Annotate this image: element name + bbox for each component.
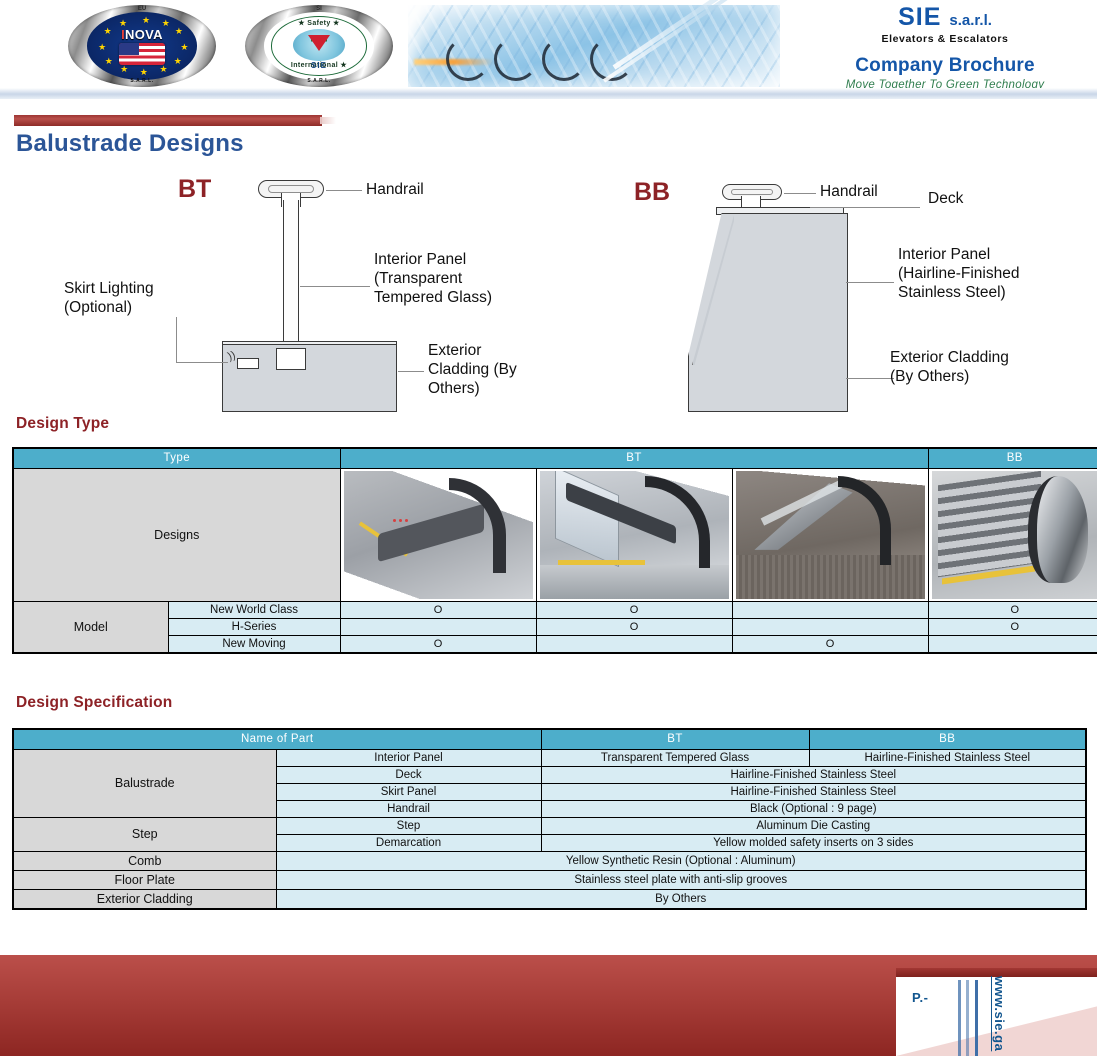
design-type-header-row: Type BT BB [13, 448, 1097, 468]
logo-safety-green-bar [311, 39, 327, 42]
brand-block: SIEs.a.r.l. Elevators & Escalators Compa… [800, 4, 1090, 91]
spec-part-interior-panel: Interior Panel [276, 749, 541, 766]
logo-safety-core-icon [293, 29, 346, 61]
logo-safety-arc-top: ★ Safety ★ [264, 19, 374, 27]
spec-value-step: Aluminum Die Casting [541, 817, 1086, 834]
spec-value-comb: Yellow Synthetic Resin (Optional : Alumi… [276, 851, 1086, 870]
bt-interior-panel-leader [300, 286, 370, 287]
spec-group-exterior-cladding: Exterior Cladding [13, 889, 276, 909]
escalator-banner-image [408, 5, 780, 87]
spec-group-step: Step [13, 817, 276, 851]
bt-interior-panel-label: Interior Panel (Transparent Tempered Gla… [374, 250, 492, 307]
title-accent-bar-fill [14, 115, 322, 126]
spec-value-exterior-cladding: By Others [276, 889, 1086, 909]
design-type-col-type: Type [13, 448, 340, 468]
model-mark-1-3 [732, 601, 928, 618]
bb-exterior-cladding-leader [846, 378, 894, 379]
design-type-col-bt: BT [340, 448, 928, 468]
diagram-label-bb: BB [634, 178, 670, 207]
brand-name: SIEs.a.r.l. [800, 4, 1090, 34]
spec-part-step: Step [276, 817, 541, 834]
document-title-accent: Brochure [949, 55, 1035, 76]
spec-value-skirt-panel: Hairline-Finished Stainless Steel [541, 783, 1086, 800]
photo-a-handrail-arm [449, 478, 506, 573]
escalator-photo-b [540, 471, 729, 599]
logo-innova-word: NOVA [125, 27, 163, 42]
banner-rail-arc-3 [542, 37, 586, 81]
design-type-heading: Design Type [16, 415, 109, 433]
footer-card-stripes [958, 980, 984, 1056]
spec-part-deck: Deck [276, 766, 541, 783]
spec-value-interior-panel-bt: Transparent Tempered Glass [541, 749, 809, 766]
bt-exterior-cladding-label: Exterior Cladding (By Others) [428, 341, 517, 398]
model-mark-2-3 [732, 618, 928, 635]
brand-subtitle: Elevators & Escalators [800, 33, 1090, 45]
escalator-newel-closeup-image [344, 471, 533, 599]
design-photo-cell-3 [732, 468, 928, 601]
design-photo-cell-2 [536, 468, 732, 601]
design-spec-table: Name of Part BT BB Balustrade Interior P… [12, 728, 1087, 910]
bb-interior-panel-label: Interior Panel (Hairline-Finished Stainl… [898, 245, 1019, 302]
bt-exterior-cladding-leader [398, 371, 424, 372]
banner-rail-arc-2 [494, 37, 538, 81]
bb-interior-panel-leader [846, 282, 894, 283]
escalator-steps-stainless-image [932, 471, 1097, 599]
model-label-cell: Model [13, 601, 168, 653]
title-accent-bar-tail [320, 117, 336, 124]
photo-b-floor [540, 565, 729, 598]
bt-handrail-leader [326, 190, 362, 191]
logo-innova-disc: ★★ ★★ ★★ ★★ ★★ ★★ INOVA [87, 12, 197, 79]
logo-safety-base-text: S.A.R.L. [307, 78, 330, 84]
header-divider-strip [0, 88, 1097, 99]
spec-row-interior-panel: Balustrade Interior Panel Transparent Te… [13, 749, 1086, 766]
model-name-2: H-Series [168, 618, 340, 635]
spec-col-name-of-part: Name of Part [13, 729, 541, 749]
spec-row-exterior-cladding: Exterior Cladding By Others [13, 889, 1086, 909]
logo-safety-mark: SIE [311, 61, 327, 70]
spec-part-skirt-panel: Skirt Panel [276, 783, 541, 800]
spec-part-demarcation: Demarcation [276, 834, 541, 851]
model-row-2: H-Series O O [13, 618, 1097, 635]
spec-col-bt: BT [541, 729, 809, 749]
photo-b-glass-panel [555, 471, 619, 567]
spec-col-bb: BB [809, 729, 1086, 749]
escalator-photo-d [932, 471, 1097, 599]
model-mark-3-3: O [732, 635, 928, 653]
bb-balustrade-body-shape [688, 213, 848, 412]
bb-deck-label: Deck [928, 189, 963, 208]
model-mark-2-4: O [928, 618, 1097, 635]
logo-safety-disc: ★ Safety ★ International ★ SIE [264, 12, 374, 79]
model-mark-3-2 [536, 635, 732, 653]
model-row-1: Model New World Class O O O [13, 601, 1097, 618]
bt-handrail-label: Handrail [366, 180, 424, 199]
photo-d-newel [1028, 476, 1088, 584]
bb-exterior-cladding-label: Exterior Cladding (By Others) [890, 348, 1009, 386]
escalator-glass-balustrade-image [540, 471, 729, 599]
logo-innova-top-mark: EU [138, 6, 146, 12]
document-title: Company Brochure [800, 55, 1090, 77]
page-number: P.- [912, 990, 928, 1005]
spec-group-balustrade: Balustrade [13, 749, 276, 817]
spec-row-step: Step Step Aluminum Die Casting [13, 817, 1086, 834]
bt-glass-foot-shape [276, 348, 306, 370]
title-accent-bar [14, 115, 334, 127]
bb-deck-leader [810, 207, 920, 208]
spec-value-floor-plate: Stainless steel plate with anti-slip gro… [276, 870, 1086, 889]
model-mark-1-2: O [536, 601, 732, 618]
escalator-photo-c [736, 471, 925, 599]
spec-part-handrail: Handrail [276, 800, 541, 817]
design-spec-heading: Design Specification [16, 694, 172, 712]
document-title-primary: Company [855, 55, 948, 76]
bt-skirt-lamp-shape [237, 358, 259, 369]
design-type-col-bb: BB [928, 448, 1097, 468]
logo-safety-top-mark: SI [316, 6, 322, 12]
logo-safety-international: SI ★ Safety ★ International ★ SIE S.A.R.… [245, 5, 393, 87]
design-type-designs-row: Designs [13, 468, 1097, 601]
page-title: Balustrade Designs [16, 130, 244, 158]
model-mark-2-1 [340, 618, 536, 635]
model-mark-3-4 [928, 635, 1097, 653]
balustrade-diagrams: BT )) Handrail Interior Panel (Transpare… [0, 165, 1097, 420]
us-flag-icon [119, 43, 165, 65]
bt-glass-panel-shape [283, 200, 299, 350]
spec-value-demarcation: Yellow molded safety inserts on 3 sides [541, 834, 1086, 851]
spec-value-interior-panel-bb: Hairline-Finished Stainless Steel [809, 749, 1086, 766]
page-header: EU ★★ ★★ ★★ ★★ ★★ ★★ INOVA S.A.R.L. SI ★… [0, 0, 1097, 99]
brand-suffix: s.a.r.l. [949, 12, 992, 29]
model-mark-3-1: O [340, 635, 536, 653]
model-mark-1-4: O [928, 601, 1097, 618]
escalator-photo-a [344, 471, 533, 599]
banner-rail-arc-1 [446, 37, 490, 81]
spec-row-comb: Comb Yellow Synthetic Resin (Optional : … [13, 851, 1086, 870]
design-type-table: Type BT BB Designs [12, 447, 1097, 654]
bt-skirt-lighting-label: Skirt Lighting (Optional) [64, 279, 154, 317]
model-name-3: New Moving [168, 635, 340, 653]
logo-innova: EU ★★ ★★ ★★ ★★ ★★ ★★ INOVA S.A.R.L. [68, 5, 216, 87]
bb-handrail-label: Handrail [820, 182, 878, 201]
spec-group-comb: Comb [13, 851, 276, 870]
photo-c-handrail-arm [838, 476, 891, 566]
spec-row-floor-plate: Floor Plate Stainless steel plate with a… [13, 870, 1086, 889]
bb-handrail-leader [784, 193, 816, 194]
photo-c-floor [736, 555, 925, 599]
logo-innova-wordmark: INOVA [121, 27, 163, 42]
footer-info-card: P.- www.sie.ga [896, 968, 1097, 1056]
bt-skirt-lighting-leader-v [176, 317, 177, 362]
logo-innova-base-text: S.A.R.L. [130, 78, 153, 84]
photo-b-handrail-arm [645, 476, 709, 568]
design-spec-header-row: Name of Part BT BB [13, 729, 1086, 749]
model-mark-1-1: O [340, 601, 536, 618]
design-photo-cell-4 [928, 468, 1097, 601]
design-photo-cell-1 [340, 468, 536, 601]
website-link[interactable]: www.sie.ga [992, 976, 1007, 1051]
model-row-3: New Moving O O [13, 635, 1097, 653]
brand-name-text: SIE [898, 3, 941, 31]
model-name-1: New World Class [168, 601, 340, 618]
model-mark-2-2: O [536, 618, 732, 635]
bt-skirt-lighting-leader-h [176, 362, 228, 363]
spec-value-handrail: Black (Optional : 9 page) [541, 800, 1086, 817]
photo-d-steps [938, 471, 1041, 578]
spec-value-deck: Hairline-Finished Stainless Steel [541, 766, 1086, 783]
photo-b-yellow-stripe [558, 560, 645, 565]
moving-walk-balustrade-image [736, 471, 925, 599]
designs-label-cell: Designs [13, 468, 340, 601]
diagram-label-bt: BT [178, 175, 211, 204]
bt-base-box-shape [222, 344, 397, 412]
spec-group-floor-plate: Floor Plate [13, 870, 276, 889]
photo-a-indicator-leds [393, 513, 411, 525]
